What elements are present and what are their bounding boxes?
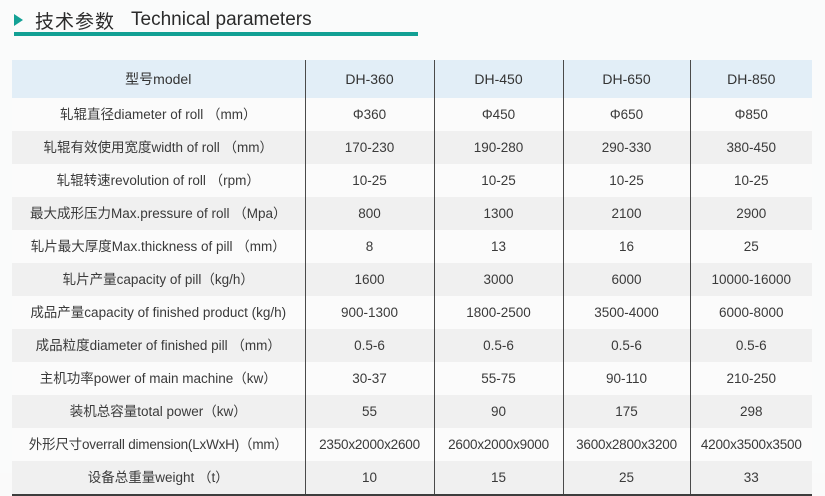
row-value: 55-75 xyxy=(434,362,563,395)
row-value: 3500-4000 xyxy=(563,296,690,329)
row-value: 10-25 xyxy=(563,164,690,197)
row-label: 装机总容量total power（kw） xyxy=(12,395,305,428)
row-value: 4200x3500x3500 xyxy=(690,428,812,461)
row-value: 800 xyxy=(305,197,434,230)
row-value: 55 xyxy=(305,395,434,428)
row-value: 10000-16000 xyxy=(690,263,812,296)
table-row: 成品粒度diameter of finished pill （mm） 0.5-6… xyxy=(12,329,812,362)
column-header-dh850: DH-850 xyxy=(690,60,812,98)
row-value: Φ450 xyxy=(434,98,563,131)
row-value: 33 xyxy=(690,461,812,495)
row-label: 成品粒度diameter of finished pill （mm） xyxy=(12,329,305,362)
row-value: 0.5-6 xyxy=(434,329,563,362)
row-value: 190-280 xyxy=(434,131,563,164)
row-value: 30-37 xyxy=(305,362,434,395)
column-header-model-label: 型号model xyxy=(12,60,305,98)
row-value: 10-25 xyxy=(434,164,563,197)
row-value: 10 xyxy=(305,461,434,495)
row-value: Φ360 xyxy=(305,98,434,131)
row-value: 1600 xyxy=(305,263,434,296)
row-value: 0.5-6 xyxy=(690,329,812,362)
row-value: 170-230 xyxy=(305,131,434,164)
row-value: 175 xyxy=(563,395,690,428)
row-value: 6000 xyxy=(563,263,690,296)
row-value: 10-25 xyxy=(690,164,812,197)
page-root: 技术参数 Technical parameters 型号model DH-360… xyxy=(0,0,825,473)
column-header-dh450: DH-450 xyxy=(434,60,563,98)
table-body: 轧辊直径diameter of roll （mm） Φ360 Φ450 Φ650… xyxy=(12,98,812,495)
row-value: 3000 xyxy=(434,263,563,296)
section-title-english: Technical parameters xyxy=(131,9,312,31)
column-header-dh360: DH-360 xyxy=(305,60,434,98)
table-row: 轧片最大厚度Max.thickness of pill （mm） 8 13 16… xyxy=(12,230,812,263)
table-row: 最大成形压力Max.pressure of roll （Mpa） 800 130… xyxy=(12,197,812,230)
table-row: 设备总重量weight （t） 10 15 25 33 xyxy=(12,461,812,495)
row-value: 2350x2000x2600 xyxy=(305,428,434,461)
table-row: 成品产量capacity of finished product (kg/h) … xyxy=(12,296,812,329)
row-value: 290-330 xyxy=(563,131,690,164)
technical-parameters-table: 型号model DH-360 DH-450 DH-650 DH-850 轧辊直径… xyxy=(12,60,812,496)
row-value: 25 xyxy=(563,461,690,495)
triangle-right-icon xyxy=(14,14,23,26)
table-header: 型号model DH-360 DH-450 DH-650 DH-850 xyxy=(12,60,812,98)
row-value: 16 xyxy=(563,230,690,263)
row-value: 298 xyxy=(690,395,812,428)
row-label: 最大成形压力Max.pressure of roll （Mpa） xyxy=(12,197,305,230)
row-value: 210-250 xyxy=(690,362,812,395)
row-label: 轧辊直径diameter of roll （mm） xyxy=(12,98,305,131)
row-value: Φ650 xyxy=(563,98,690,131)
table-row: 外形尺寸overrall dimension(LxWxH)（mm） 2350x2… xyxy=(12,428,812,461)
table-row: 主机功率power of main machine（kw） 30-37 55-7… xyxy=(12,362,812,395)
row-label: 设备总重量weight （t） xyxy=(12,461,305,495)
row-value: 25 xyxy=(690,230,812,263)
row-value: 3600x2800x3200 xyxy=(563,428,690,461)
section-title-chinese: 技术参数 xyxy=(35,7,115,34)
section-underline xyxy=(14,32,418,36)
row-label: 外形尺寸overrall dimension(LxWxH)（mm） xyxy=(12,428,305,461)
column-header-dh650: DH-650 xyxy=(563,60,690,98)
table-row: 轧辊转速revolution of roll （rpm） 10-25 10-25… xyxy=(12,164,812,197)
row-value: 2900 xyxy=(690,197,812,230)
row-label: 轧辊有效使用宽度width of roll （mm） xyxy=(12,131,305,164)
row-label: 成品产量capacity of finished product (kg/h) xyxy=(12,296,305,329)
row-label: 轧片最大厚度Max.thickness of pill （mm） xyxy=(12,230,305,263)
row-value: 90-110 xyxy=(563,362,690,395)
table-row: 轧辊有效使用宽度width of roll （mm） 170-230 190-2… xyxy=(12,131,812,164)
row-value: 1800-2500 xyxy=(434,296,563,329)
spec-table-container: 型号model DH-360 DH-450 DH-650 DH-850 轧辊直径… xyxy=(12,60,812,496)
row-label: 轧辊转速revolution of roll （rpm） xyxy=(12,164,305,197)
row-value: 13 xyxy=(434,230,563,263)
row-label: 轧片产量capacity of pill（kg/h） xyxy=(12,263,305,296)
row-value: 8 xyxy=(305,230,434,263)
row-value: 1300 xyxy=(434,197,563,230)
table-header-row: 型号model DH-360 DH-450 DH-650 DH-850 xyxy=(12,60,812,98)
row-value: 380-450 xyxy=(690,131,812,164)
row-value: 0.5-6 xyxy=(563,329,690,362)
row-value: 10-25 xyxy=(305,164,434,197)
row-value: 15 xyxy=(434,461,563,495)
row-value: 2600x2000x9000 xyxy=(434,428,563,461)
table-row: 轧片产量capacity of pill（kg/h） 1600 3000 600… xyxy=(12,263,812,296)
row-value: Φ850 xyxy=(690,98,812,131)
row-value: 0.5-6 xyxy=(305,329,434,362)
row-label: 主机功率power of main machine（kw） xyxy=(12,362,305,395)
row-value: 6000-8000 xyxy=(690,296,812,329)
row-value: 900-1300 xyxy=(305,296,434,329)
row-value: 90 xyxy=(434,395,563,428)
table-row: 轧辊直径diameter of roll （mm） Φ360 Φ450 Φ650… xyxy=(12,98,812,131)
row-value: 2100 xyxy=(563,197,690,230)
table-row: 装机总容量total power（kw） 55 90 175 298 xyxy=(12,395,812,428)
